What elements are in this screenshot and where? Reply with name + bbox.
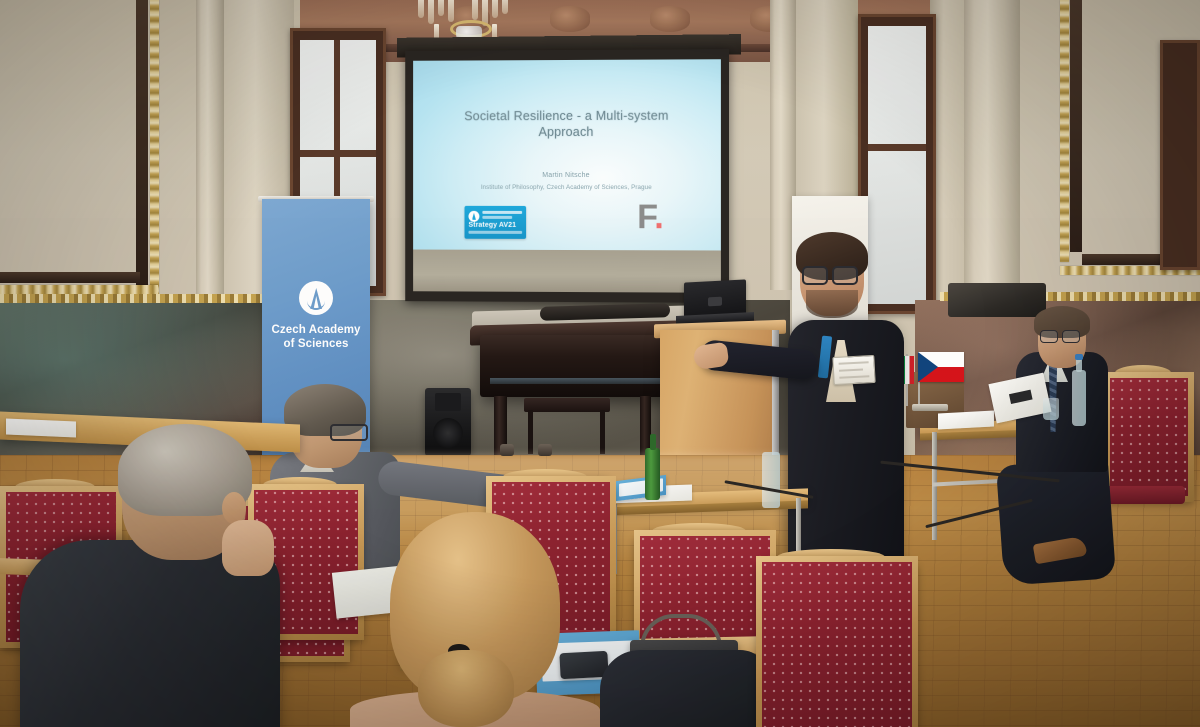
gold-molding-left-horizontal xyxy=(0,285,158,294)
dark-inlay-left xyxy=(136,0,148,290)
pa-speaker xyxy=(425,388,471,456)
slide-title: Societal Resilience - a Multi-system App… xyxy=(439,108,695,141)
window-glass-right xyxy=(868,26,926,304)
attendee-hand xyxy=(222,520,274,576)
pilaster xyxy=(196,0,224,300)
gold-molding-right-vertical xyxy=(1060,0,1069,262)
banquet-chair[interactable] xyxy=(1104,372,1182,490)
czech-flag xyxy=(918,352,964,382)
strategy-av21-label: Strategy AV21 xyxy=(468,222,522,229)
screen-blank-area xyxy=(413,250,721,293)
water-bottle xyxy=(1072,370,1086,426)
smartphone[interactable] xyxy=(559,651,608,679)
strategy-av21-logo: Strategy AV21 xyxy=(465,206,527,239)
document-on-panel-table xyxy=(938,411,994,430)
banner-line-1: Czech Academy xyxy=(262,323,370,337)
academy-mark-icon xyxy=(468,211,479,222)
chair-back xyxy=(1104,372,1194,502)
attendee-glasses-icon xyxy=(330,424,368,441)
logo-text-line xyxy=(482,216,512,219)
logo-text-line xyxy=(468,231,522,234)
speaker-beard xyxy=(806,290,858,318)
flu-logo-letter: F xyxy=(637,198,654,236)
attendee-ponytail xyxy=(418,650,514,727)
mic-stand-base xyxy=(538,444,552,456)
water-bottle xyxy=(762,452,780,508)
speaker-glasses-icon xyxy=(802,266,858,281)
attendee-front-right-silhouette xyxy=(600,650,770,727)
dark-inlay-left-bottom xyxy=(0,272,140,283)
flu-logo: F. xyxy=(637,200,664,234)
logo-text-line xyxy=(482,211,522,214)
presentation-slide: Societal Resilience - a Multi-system App… xyxy=(413,59,721,250)
flag-base xyxy=(912,404,948,411)
banner-text: Czech Academy of Sciences xyxy=(262,323,370,351)
gold-molding-left-vertical xyxy=(150,0,159,300)
window-frame-far-right xyxy=(1160,40,1200,270)
speaker-name-badge xyxy=(832,355,875,385)
stone-plinth xyxy=(948,283,1046,317)
slide-author: Martin Nitsche xyxy=(439,172,695,179)
screen-surface: Societal Resilience - a Multi-system App… xyxy=(413,59,721,293)
piano-bench-leg xyxy=(528,410,533,454)
conference-photo: Societal Resilience - a Multi-system App… xyxy=(0,0,1200,727)
chair-seat xyxy=(1101,486,1185,504)
piano-bench xyxy=(524,398,610,412)
academy-a-logo-icon xyxy=(299,281,333,315)
banquet-chair[interactable] xyxy=(756,556,906,727)
window-mullion xyxy=(868,144,926,151)
flu-logo-dot: . xyxy=(654,198,664,236)
slide-affiliation: Institute of Philosophy, Czech Academy o… xyxy=(429,184,705,191)
drinking-glass xyxy=(1043,398,1059,420)
flag-display xyxy=(898,352,968,414)
projection-screen: Societal Resilience - a Multi-system App… xyxy=(405,49,729,303)
mic-stand-base xyxy=(500,444,514,456)
dark-inlay-right xyxy=(1070,0,1082,252)
panelist-glasses-icon xyxy=(1040,330,1080,341)
piano-bench-leg xyxy=(600,410,605,454)
paper-on-table xyxy=(6,418,76,437)
chair-back xyxy=(756,556,918,727)
banner-line-2: of Sciences xyxy=(262,337,370,351)
green-bottle xyxy=(645,448,660,500)
